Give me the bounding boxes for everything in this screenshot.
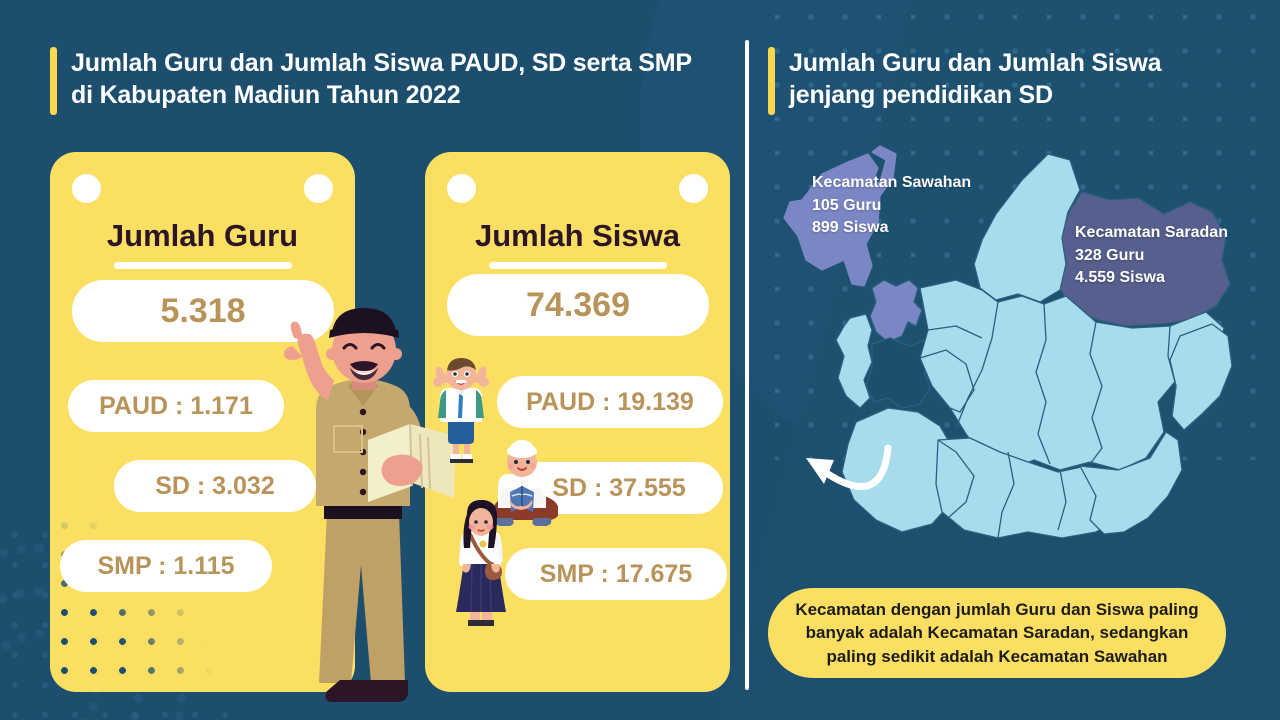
right-panel-title-text: Jumlah Guru dan Jumlah Siswa jenjang pen… bbox=[789, 47, 1238, 111]
map-label-saradan-guru: 328 Guru bbox=[1075, 245, 1228, 268]
map-label-saradan-siswa: 4.559 Siswa bbox=[1075, 267, 1228, 290]
left-panel-title-text: Jumlah Guru dan Jumlah Siswa PAUD, SD se… bbox=[71, 47, 710, 111]
card-row-paud: PAUD : 19.139 bbox=[497, 376, 723, 428]
map-region-dark-west bbox=[866, 338, 930, 408]
map-label-sawahan-name: Kecamatan Sawahan bbox=[812, 172, 971, 195]
map-region-sawahan bbox=[870, 280, 922, 342]
title-accent-bar bbox=[768, 47, 775, 115]
card-heading-underline bbox=[489, 262, 667, 269]
stat-card-jumlah-guru: Jumlah Guru 5.318 PAUD : 1.171 SD : 3.03… bbox=[50, 152, 355, 692]
card-heading-underline bbox=[114, 262, 292, 269]
map-label-sawahan-siswa: 899 Siswa bbox=[812, 217, 971, 240]
map-caption: Kecamatan dengan jumlah Guru dan Siswa p… bbox=[768, 588, 1226, 678]
card-total-value: 74.369 bbox=[447, 274, 709, 336]
map-label-sawahan-guru: 105 Guru bbox=[812, 195, 971, 218]
card-punch-hole-left bbox=[72, 174, 101, 203]
map-label-saradan-name: Kecamatan Saradan bbox=[1075, 222, 1228, 245]
right-panel-title: Jumlah Guru dan Jumlah Siswa jenjang pen… bbox=[768, 47, 1238, 115]
map-label-sawahan: Kecamatan Sawahan 105 Guru 899 Siswa bbox=[812, 172, 971, 240]
map-region-east bbox=[1170, 324, 1232, 430]
map-region-west-sliver bbox=[836, 314, 872, 408]
card-heading: Jumlah Guru bbox=[50, 218, 355, 254]
card-row-smp: SMP : 17.675 bbox=[505, 548, 727, 600]
map-label-saradan: Kecamatan Saradan 328 Guru 4.559 Siswa bbox=[1075, 222, 1228, 290]
card-punch-hole-right bbox=[304, 174, 333, 203]
panel-divider bbox=[745, 40, 749, 690]
card-row-smp: SMP : 1.115 bbox=[60, 540, 272, 592]
card-punch-hole-left bbox=[447, 174, 476, 203]
card-row-sd: SD : 37.555 bbox=[515, 462, 723, 514]
stat-card-jumlah-siswa: Jumlah Siswa 74.369 PAUD : 19.139 SD : 3… bbox=[425, 152, 730, 692]
left-panel-title: Jumlah Guru dan Jumlah Siswa PAUD, SD se… bbox=[50, 47, 710, 115]
card-row-sd: SD : 3.032 bbox=[114, 460, 316, 512]
card-punch-hole-right bbox=[679, 174, 708, 203]
title-accent-bar bbox=[50, 47, 57, 115]
card-total-value: 5.318 bbox=[72, 280, 334, 342]
card-heading: Jumlah Siswa bbox=[425, 218, 730, 254]
card-row-paud: PAUD : 1.171 bbox=[68, 380, 284, 432]
